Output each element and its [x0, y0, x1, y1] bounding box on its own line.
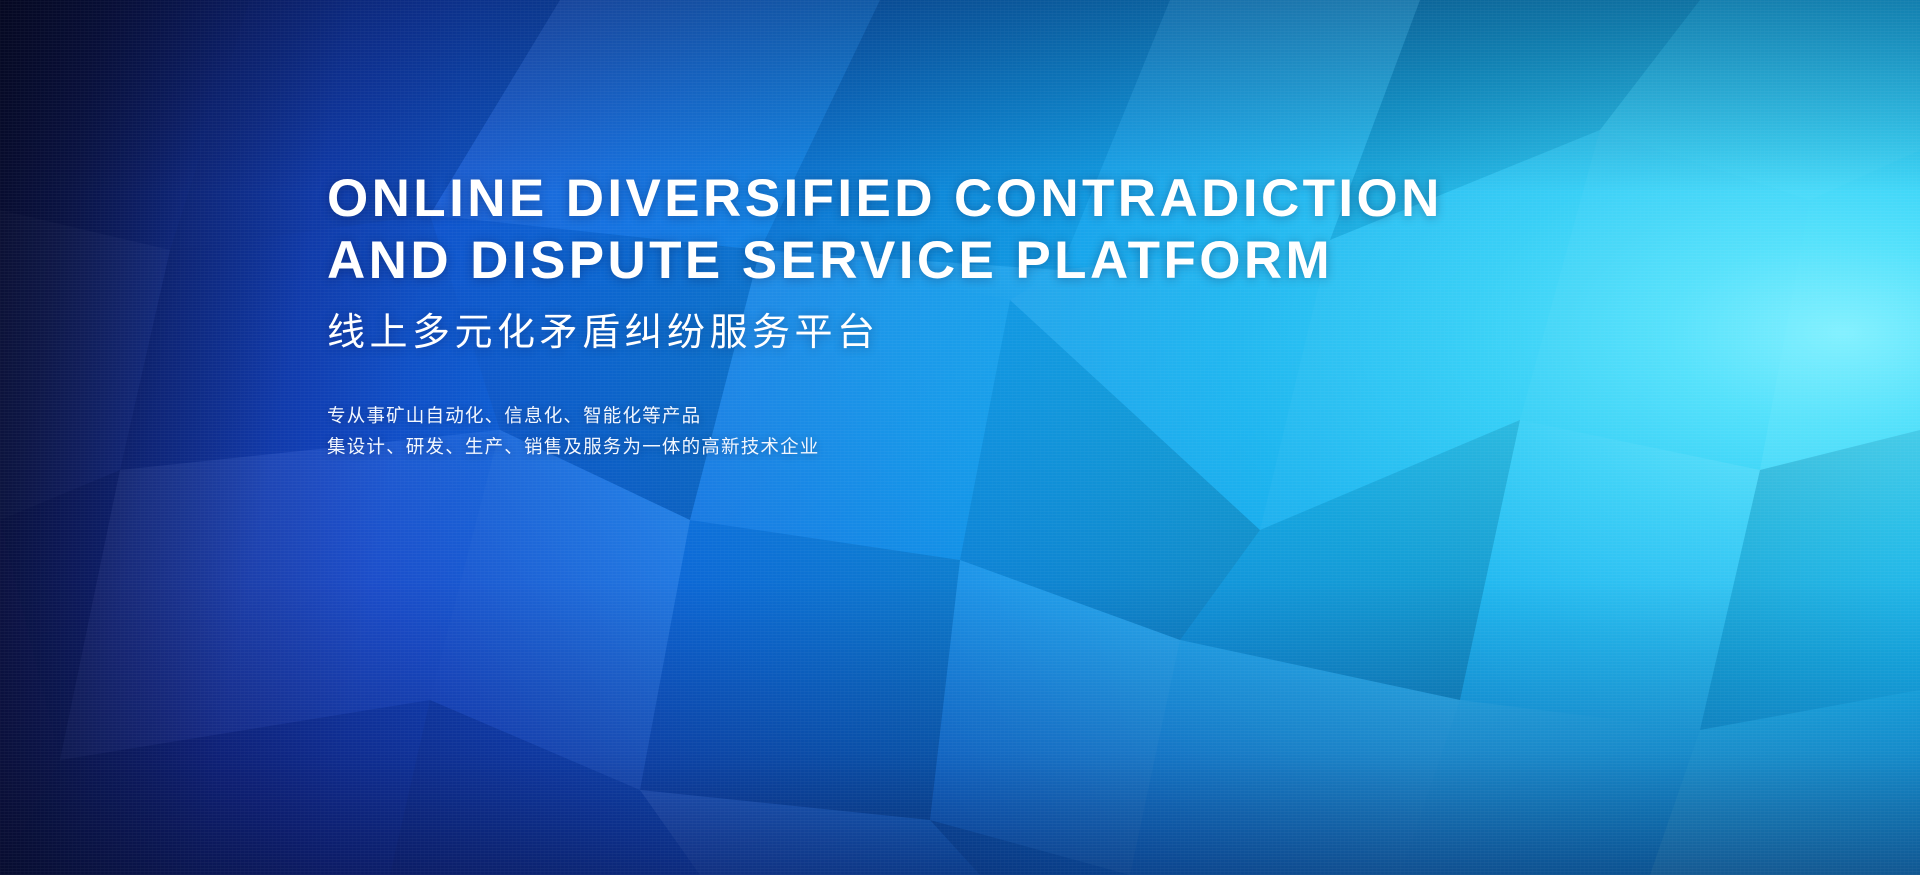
headline-chinese: 线上多元化矛盾纠纷服务平台: [327, 310, 1507, 356]
hero-banner: ONLINE DIVERSIFIED CONTRADICTION AND DIS…: [0, 0, 1920, 875]
tagline-line-1: 专从事矿山自动化、信息化、智能化等产品: [327, 400, 1507, 431]
headline-english: ONLINE DIVERSIFIED CONTRADICTION AND DIS…: [327, 168, 1507, 292]
tagline-block: 专从事矿山自动化、信息化、智能化等产品 集设计、研发、生产、销售及服务为一体的高…: [327, 400, 1507, 462]
tagline-line-2: 集设计、研发、生产、销售及服务为一体的高新技术企业: [327, 431, 1507, 462]
hero-copy-block: ONLINE DIVERSIFIED CONTRADICTION AND DIS…: [327, 168, 1507, 462]
